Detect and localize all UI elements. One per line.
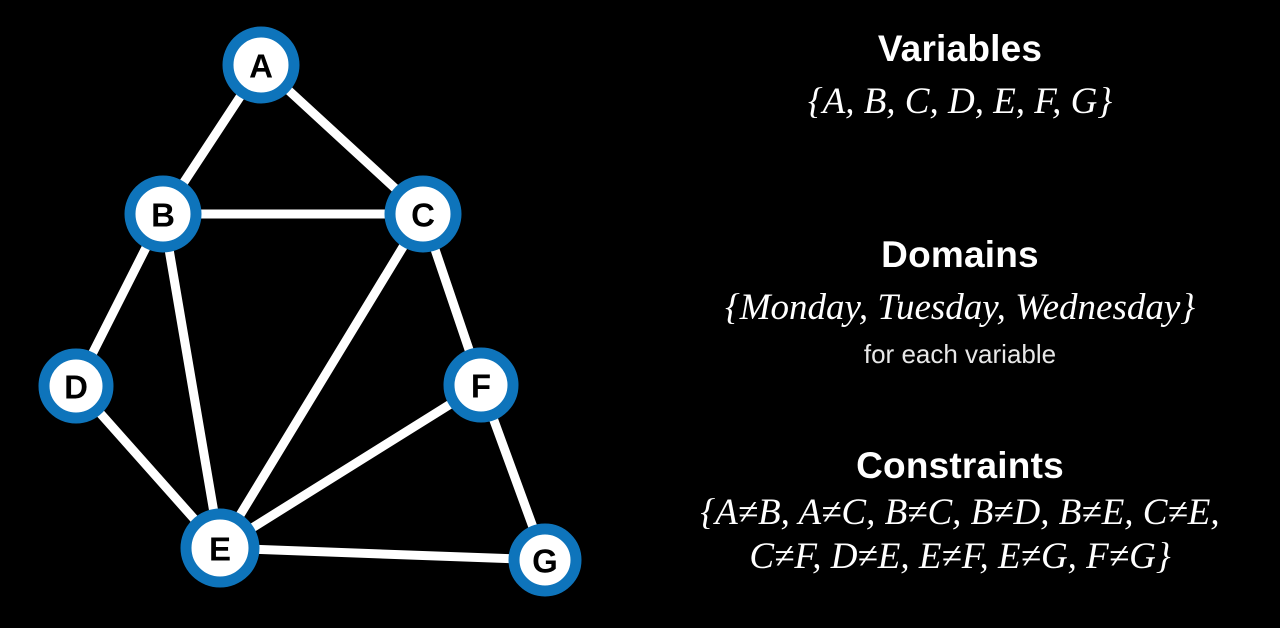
variables-set: {A, B, C, D, E, F, G} (640, 72, 1280, 125)
variables-block: Variables {A, B, C, D, E, F, G} (640, 26, 1280, 125)
graph-node-f[interactable]: F (449, 353, 513, 417)
graph-node-e[interactable]: E (186, 514, 254, 582)
constraints-line-1: {A≠B, A≠C, B≠C, B≠D, B≠E, C≠E, (654, 491, 1266, 535)
domains-note: for each variable (640, 331, 1280, 371)
graph-edge-c-e (220, 214, 423, 548)
constraint-graph-panel: ABCDEFG (0, 0, 640, 628)
graph-node-b[interactable]: B (130, 181, 196, 247)
graph-node-label-a: A (249, 48, 273, 85)
graph-node-label-d: D (64, 369, 88, 406)
graph-node-label-e: E (209, 531, 231, 568)
slide-root: ABCDEFG Variables {A, B, C, D, E, F, G} … (0, 0, 1280, 628)
constraints-set: {A≠B, A≠C, B≠C, B≠D, B≠E, C≠E, C≠F, D≠E,… (640, 489, 1280, 579)
domains-set: {Monday, Tuesday, Wednesday} (640, 278, 1280, 331)
variables-heading: Variables (640, 26, 1280, 72)
info-panel: Variables {A, B, C, D, E, F, G} Domains … (640, 0, 1280, 628)
graph-edge-e-f (220, 385, 481, 548)
graph-node-label-f: F (471, 368, 491, 405)
graph-node-label-c: C (411, 197, 435, 234)
domains-block: Domains {Monday, Tuesday, Wednesday} for… (640, 232, 1280, 371)
constraints-line-2: C≠F, D≠E, E≠F, E≠G, F≠G} (654, 535, 1266, 579)
domains-heading: Domains (640, 232, 1280, 278)
graph-node-label-b: B (151, 197, 175, 234)
constraint-graph-svg: ABCDEFG (0, 0, 640, 628)
graph-node-label-g: G (532, 543, 558, 580)
graph-edge-e-g (220, 548, 545, 560)
constraints-heading: Constraints (640, 443, 1280, 489)
graph-edges-group (76, 65, 545, 560)
graph-node-c[interactable]: C (390, 181, 456, 247)
graph-node-a[interactable]: A (228, 32, 294, 98)
graph-node-d[interactable]: D (44, 354, 108, 418)
graph-node-g[interactable]: G (514, 529, 576, 591)
constraints-block: Constraints {A≠B, A≠C, B≠C, B≠D, B≠E, C≠… (640, 443, 1280, 579)
